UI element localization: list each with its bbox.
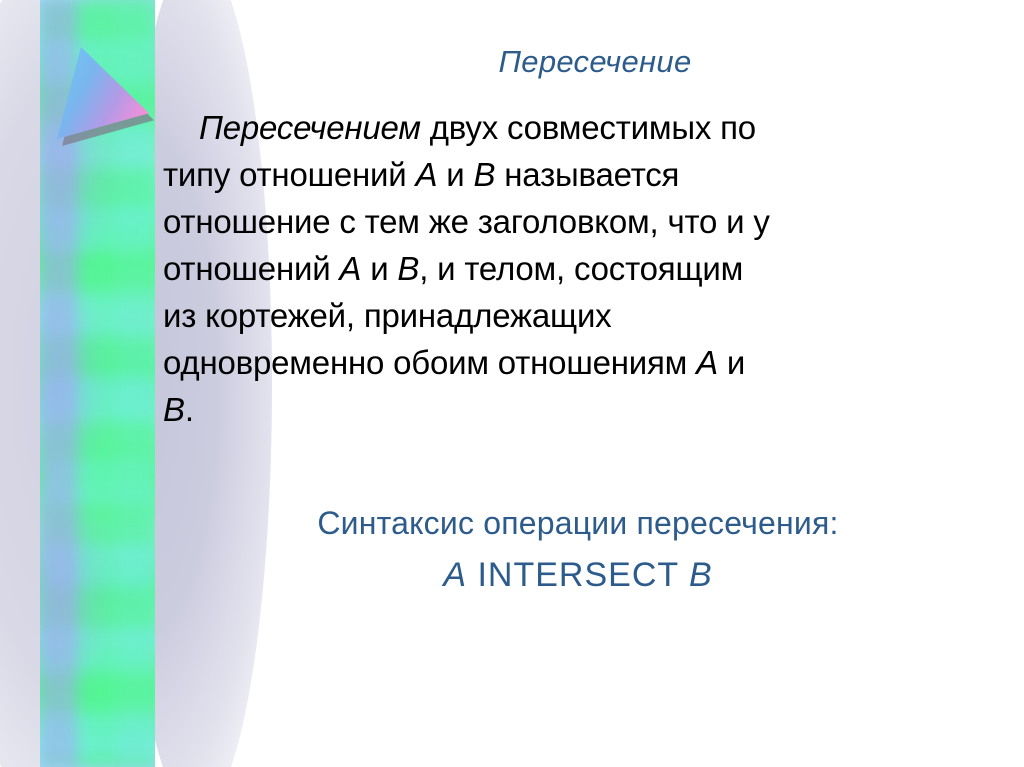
text-run: А (416, 156, 438, 193)
body-line: типу отношений А и В называется (163, 151, 1021, 198)
text-run: А (443, 556, 467, 594)
syntax-formula: А INTERSECT В (163, 549, 993, 601)
body-text-block: Пересечением двух совместимых потипу отн… (163, 104, 1021, 433)
text-run: и (361, 250, 397, 287)
text-run: В (163, 391, 185, 428)
text-run: Пересечением (199, 109, 421, 146)
text-run: из кортежей, принадлежащих (163, 297, 612, 334)
body-line: одновременно обоим отношениям А и (163, 339, 1021, 386)
text-run: отношение с тем же заголовком, что и у (163, 203, 770, 240)
body-line: Пересечением двух совместимых по (163, 104, 1021, 151)
text-run: , и телом, состоящим (419, 250, 743, 287)
syntax-caption: Синтаксис операции пересечения: (163, 497, 993, 549)
text-run: В (689, 556, 713, 594)
body-line: отношение с тем же заголовком, что и у (163, 198, 1021, 245)
text-run: А (339, 250, 361, 287)
body-line: В. (163, 386, 1021, 433)
text-run: . (185, 391, 194, 428)
text-run: В (473, 156, 495, 193)
page-title: Пересечение (190, 44, 1000, 80)
text-run: А (696, 344, 718, 381)
body-line: отношений А и В, и телом, состоящим (163, 245, 1021, 292)
text-run: INTERSECT (467, 556, 689, 594)
presentation-slide: Пересечение Пересечением двух совместимы… (0, 0, 1024, 767)
text-run: типу отношений (163, 156, 416, 193)
text-run: двух совместимых по (421, 109, 756, 146)
text-run: одновременно обоим отношениям (163, 344, 696, 381)
body-line: из кортежей, принадлежащих (163, 292, 1021, 339)
text-run: отношений (163, 250, 339, 287)
text-run: В (397, 250, 419, 287)
text-run: и (718, 344, 745, 381)
text-run: называется (495, 156, 679, 193)
decorative-side-band (0, 0, 190, 767)
text-run: и (437, 156, 473, 193)
syntax-block: Синтаксис операции пересечения: А INTERS… (163, 497, 993, 601)
